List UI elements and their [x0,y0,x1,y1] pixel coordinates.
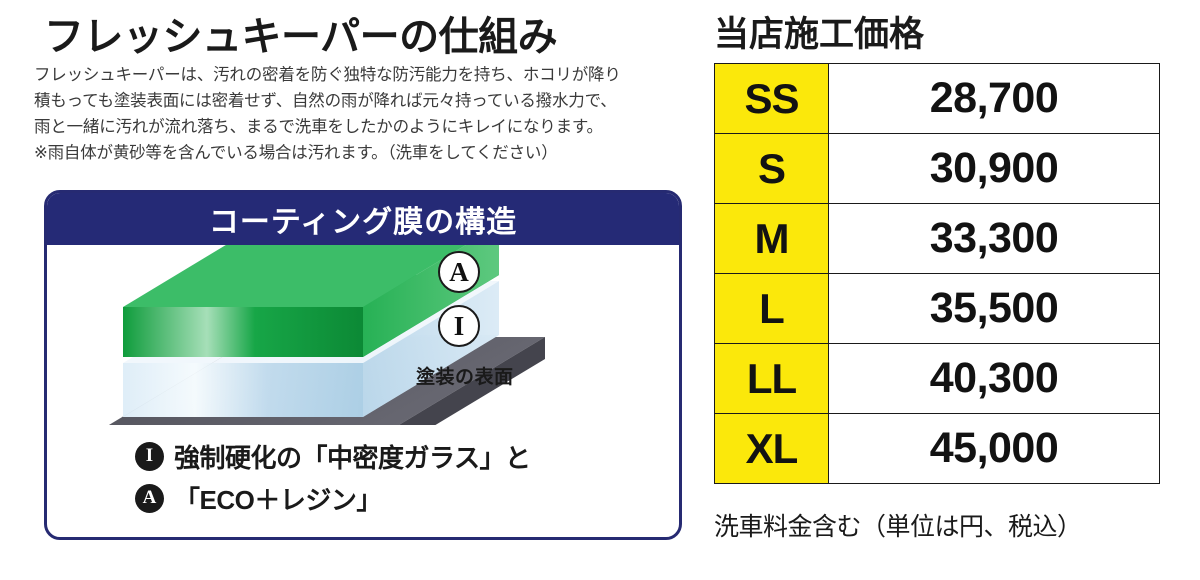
coating-legend: I 強制硬化の「中密度ガラス」と A 「ECO＋レジン」 [135,435,665,519]
price-note: 洗車料金含む（単位は円、税込） [714,507,1082,543]
page-title: フレッシュキーパーの仕組み [44,4,557,62]
description-line: フレッシュキーパーは、汚れの密着を防ぐ独特な防汚能力を持ち、ホコリが降り [34,62,694,88]
legend-badge-a: A [135,484,164,513]
description-line: 積もっても塗装表面には密着せず、自然の雨が降れば元々持っている撥水力で、 [34,88,694,114]
price-value: 33,300 [829,204,1160,274]
size-label: L [715,274,829,344]
layer-badge-a: A [438,251,480,293]
price-table: SS 28,700 S 30,900 M 33,300 L 35,500 LL … [714,63,1160,484]
size-label: S [715,134,829,204]
coating-layers-svg [47,245,679,425]
table-row: XL 45,000 [715,414,1160,484]
mechanism-section: フレッシュキーパーの仕組み フレッシュキーパーは、汚れの密着を防ぐ独特な防汚能力… [0,0,700,580]
legend-item-a: A 「ECO＋レジン」 [135,477,665,519]
price-value: 40,300 [829,344,1160,414]
table-row: LL 40,300 [715,344,1160,414]
price-value: 30,900 [829,134,1160,204]
price-value: 45,000 [829,414,1160,484]
price-value: 35,500 [829,274,1160,344]
legend-label-i: 強制硬化の「中密度ガラス」と [174,438,530,475]
description-line: 雨と一緒に汚れが流れ落ち、まるで洗車をしたかのようにキレイになります。 [34,114,694,140]
layer-badge-i: I [438,305,480,347]
panel-header: コーティング膜の構造 [47,193,679,245]
size-label: LL [715,344,829,414]
description-line: ※雨自体が黄砂等を含んでいる場合は汚れます。（洗車をしてください） [34,140,694,166]
coating-structure-panel: コーティング膜の構造 [44,190,682,540]
size-label: M [715,204,829,274]
legend-label-a: 「ECO＋レジン」 [174,480,382,517]
table-row: L 35,500 [715,274,1160,344]
glass-layer-front [123,363,363,417]
panel-title: コーティング膜の構造 [209,197,517,241]
table-row: S 30,900 [715,134,1160,204]
table-row: SS 28,700 [715,64,1160,134]
legend-item-i: I 強制硬化の「中密度ガラス」と [135,435,665,477]
price-section: 当店施工価格 SS 28,700 S 30,900 M 33,300 L 35,… [700,0,1200,580]
paint-surface-label: 塗装の表面 [416,362,514,389]
mechanism-description: フレッシュキーパーは、汚れの密着を防ぐ独特な防汚能力を持ち、ホコリが降り 積もっ… [34,62,694,166]
price-value: 28,700 [829,64,1160,134]
size-label: XL [715,414,829,484]
coating-layers-diagram: A I 塗装の表面 [47,245,679,425]
size-label: SS [715,64,829,134]
green-layer-front [123,307,363,357]
table-row: M 33,300 [715,204,1160,274]
legend-badge-i: I [135,442,164,471]
price-title: 当店施工価格 [714,6,924,57]
